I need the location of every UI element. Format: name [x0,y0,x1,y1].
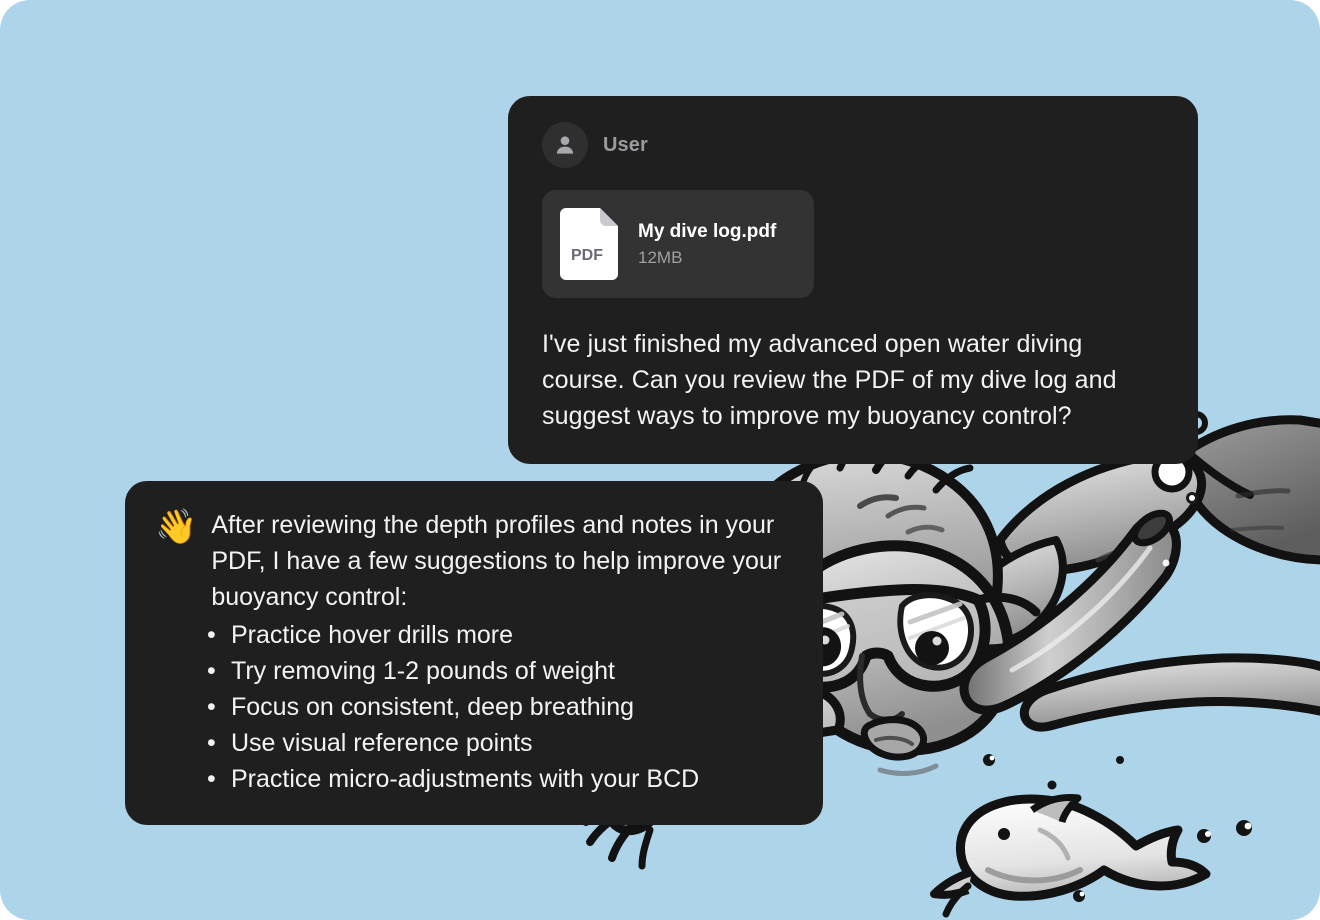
svg-text:PDF: PDF [571,247,603,264]
list-item: Focus on consistent, deep breathing [207,689,793,725]
suggestion-list: Practice hover drills more Try removing … [155,617,793,797]
pdf-attachment-card[interactable]: PDF My dive log.pdf 12MB [542,190,814,298]
list-item: Practice micro-adjustments with your BCD [207,761,793,797]
file-meta: My dive log.pdf 12MB [638,221,776,268]
pdf-file-icon: PDF [560,208,618,280]
fish-illustration [934,798,1206,915]
assistant-intro-text: After reviewing the depth profiles and n… [211,507,793,615]
file-name-label: My dive log.pdf [638,221,776,243]
file-size-label: 12MB [638,248,776,268]
list-item: Practice hover drills more [207,617,793,653]
user-message-text: I've just finished my advanced open wate… [542,326,1164,434]
user-message-bubble: User PDF My dive log.pdf 12MB I've just … [508,96,1198,464]
list-item: Try removing 1-2 pounds of weight [207,653,793,689]
user-header: User [542,122,1164,168]
assistant-message-bubble: 👋 After reviewing the depth profiles and… [125,481,823,825]
person-avatar-icon [542,122,588,168]
list-item: Use visual reference points [207,725,793,761]
chat-illustration-canvas: User PDF My dive log.pdf 12MB I've just … [0,0,1320,920]
waving-hand-emoji: 👋 [155,509,197,545]
user-name-label: User [603,134,648,157]
assistant-intro: 👋 After reviewing the depth profiles and… [155,507,793,615]
